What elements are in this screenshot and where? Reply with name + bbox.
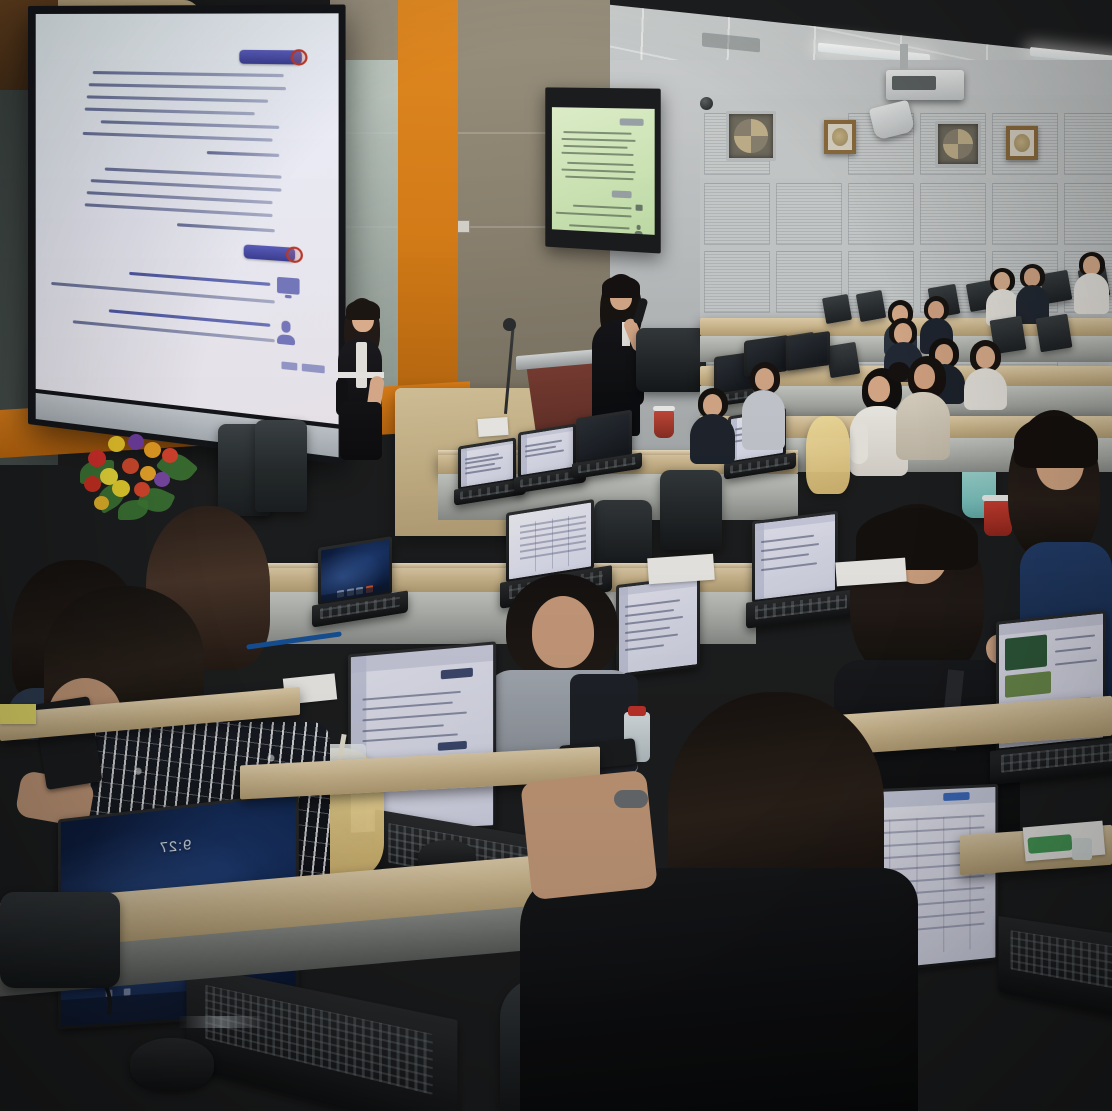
projected-slide bbox=[36, 13, 339, 424]
exhaust-fan-icon bbox=[935, 121, 981, 167]
lecture-hall-photo: 9:27 bbox=[0, 0, 1112, 1111]
stage-armchair bbox=[636, 328, 706, 392]
doc-button[interactable] bbox=[441, 668, 473, 680]
task-chair bbox=[594, 500, 652, 572]
wristwatch-icon bbox=[614, 790, 648, 808]
stage-chair bbox=[255, 420, 307, 512]
coffee-cup bbox=[654, 410, 674, 438]
wall-mounted-display bbox=[545, 87, 660, 253]
paper-sheet bbox=[477, 417, 508, 437]
attendee-foreground-black-jacket bbox=[520, 692, 920, 1111]
monitor-stand-icon bbox=[285, 295, 292, 299]
presenter-at-screen bbox=[326, 298, 396, 460]
wall-picture-frame bbox=[824, 120, 856, 154]
slide-seal-icon bbox=[286, 246, 303, 263]
person-body-icon bbox=[277, 334, 295, 345]
presenter-collar bbox=[356, 342, 367, 388]
screen-image-block bbox=[1005, 634, 1047, 671]
laptop-lid-rear bbox=[822, 294, 852, 324]
lockscreen-clock: 9:27 bbox=[61, 825, 296, 867]
screen-image-block bbox=[1005, 671, 1051, 698]
sticky-note bbox=[0, 704, 36, 724]
paper-sheet bbox=[647, 554, 715, 585]
computer-mouse[interactable] bbox=[130, 1038, 214, 1090]
monitor-icon bbox=[277, 277, 300, 295]
orange-accent-column bbox=[398, 0, 458, 429]
small-container bbox=[1072, 838, 1092, 860]
slide-seal-icon bbox=[290, 49, 307, 65]
person-icon bbox=[281, 320, 290, 333]
exhaust-fan-icon bbox=[726, 111, 776, 161]
task-chair-left bbox=[0, 892, 120, 988]
m2-monitor-icon bbox=[636, 205, 643, 211]
ceiling-camera-icon bbox=[700, 97, 713, 110]
ceiling-projector bbox=[886, 70, 964, 100]
task-chair bbox=[660, 470, 722, 550]
wall-picture-frame bbox=[1006, 126, 1038, 160]
wall-display-slide bbox=[552, 107, 655, 235]
attendee-far-4 bbox=[1016, 264, 1050, 324]
m2-badge-mid bbox=[612, 190, 632, 198]
drink-bag bbox=[806, 416, 850, 494]
m2-person-body-icon bbox=[635, 231, 643, 235]
attendee-rowd-right bbox=[742, 362, 786, 450]
laptop-lid-rear bbox=[1036, 314, 1073, 353]
attendee-far-5 bbox=[1074, 252, 1110, 314]
m2-badge-top bbox=[620, 118, 644, 126]
doc-button[interactable] bbox=[438, 740, 467, 751]
thinkpad-logo bbox=[178, 1016, 266, 1028]
attendee-beige bbox=[896, 356, 954, 460]
m2-person-icon bbox=[637, 225, 641, 230]
main-projection-screen bbox=[28, 4, 346, 464]
attendee-rowb-3 bbox=[964, 340, 1008, 410]
laptop-lid-rear bbox=[856, 290, 886, 322]
paper-sheet bbox=[835, 558, 907, 587]
app-action-button[interactable] bbox=[943, 792, 969, 802]
attendee-rowd-left bbox=[690, 388, 736, 464]
microphone-icon bbox=[503, 318, 516, 331]
